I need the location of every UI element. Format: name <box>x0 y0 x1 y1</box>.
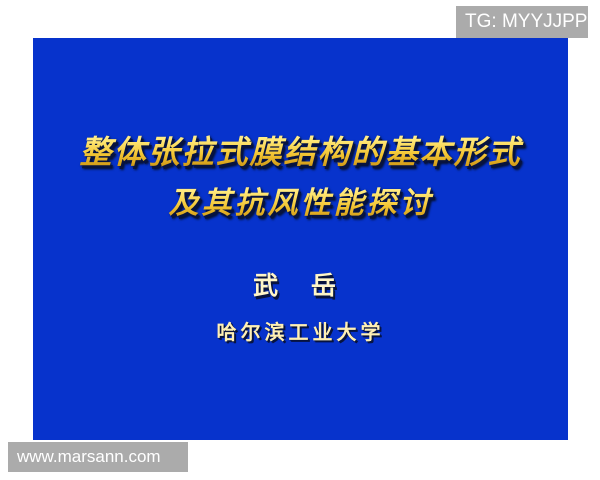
slide-title-line-1: 整体张拉式膜结构的基本形式 <box>33 126 568 178</box>
slide-title: 整体张拉式膜结构的基本形式 及其抗风性能探讨 <box>33 126 568 230</box>
slide-affiliation: 哈尔滨工业大学 <box>33 316 568 345</box>
slide-author: 武 岳 <box>33 266 568 302</box>
watermark-top-right: TG: MYYJJPP <box>456 6 588 38</box>
affiliation-name: 哈尔滨工业大学 <box>217 320 385 344</box>
author-name: 武 岳 <box>253 271 348 300</box>
presentation-slide: 整体张拉式膜结构的基本形式 及其抗风性能探讨 武 岳 哈尔滨工业大学 <box>33 38 568 440</box>
slide-title-line-2: 及其抗风性能探讨 <box>33 178 568 230</box>
watermark-bottom-left: www.marsann.com <box>8 442 188 472</box>
